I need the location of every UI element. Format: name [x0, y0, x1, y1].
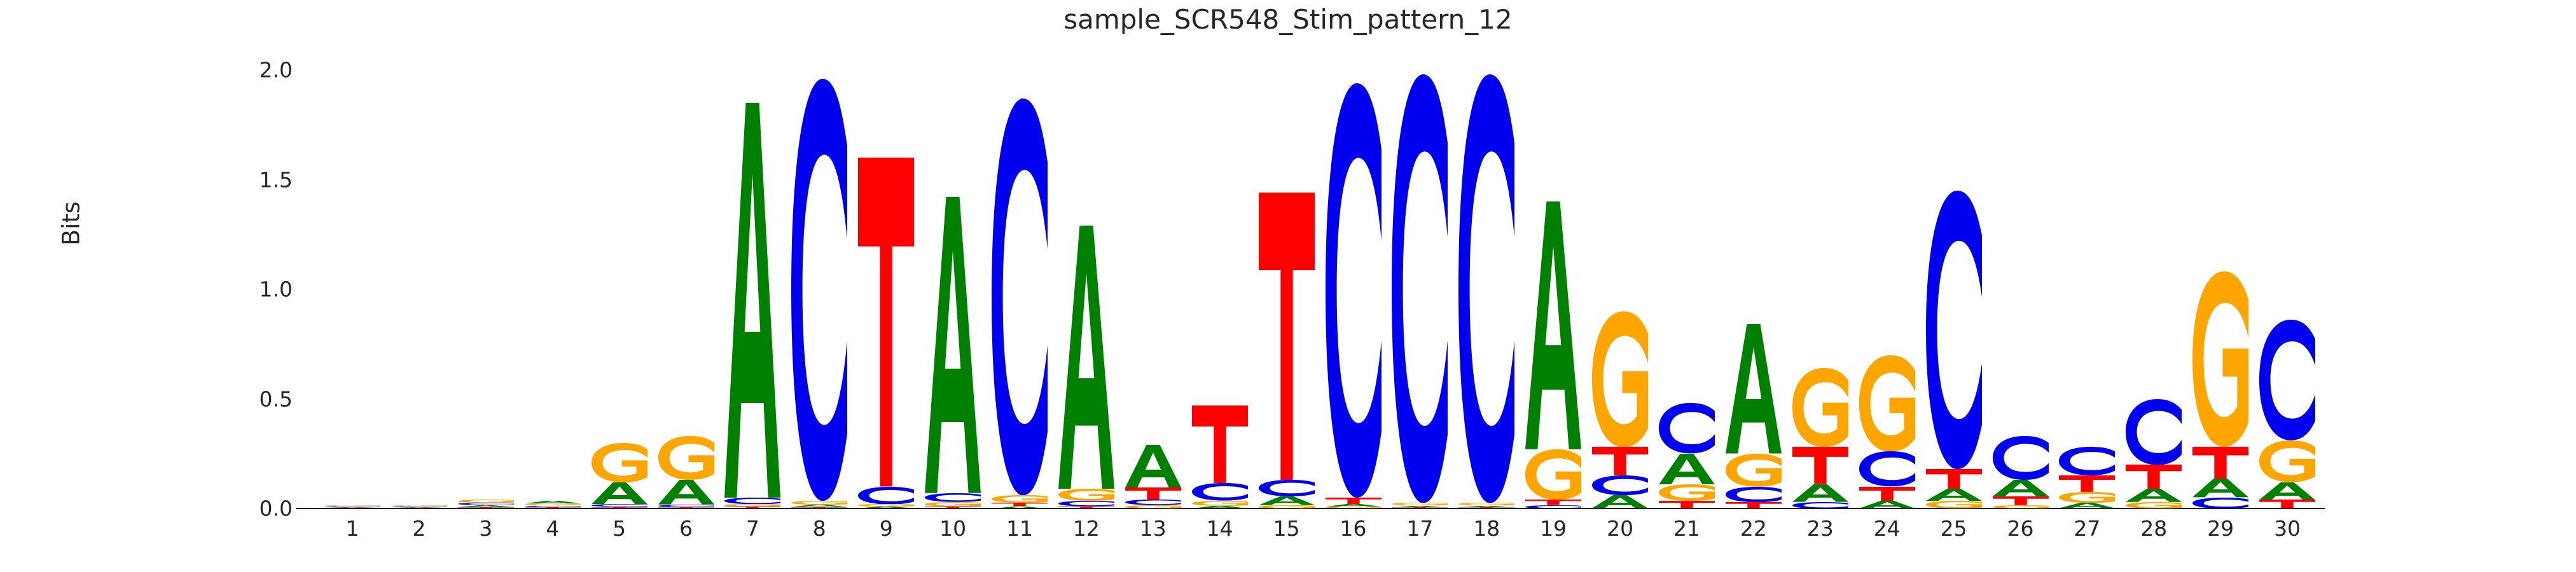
logo-letter-c: [2259, 320, 2315, 440]
logo-letter-a: [1659, 454, 1715, 484]
logo-letter-g: [2126, 502, 2182, 508]
logo-stack: [1993, 436, 2049, 508]
logo-stack: [525, 501, 581, 508]
logo-stack: [1659, 403, 1715, 508]
logo-letter-t: [1859, 487, 1915, 501]
logo-stack: [2059, 447, 2115, 508]
logo-stack: [324, 505, 380, 508]
logo-letter-t: [1458, 507, 1514, 508]
logo-stack: [724, 103, 780, 508]
logo-stack: [1392, 74, 1448, 508]
logo-letter-t: [2259, 500, 2315, 508]
logo-letter-g: [1058, 489, 1114, 501]
logo-stack: [1859, 355, 1915, 508]
logo-letter-t: [391, 508, 447, 508]
logo-letter-c: [1125, 500, 1181, 505]
logo-letter-c: [1326, 83, 1381, 498]
logo-stack: [2259, 320, 2315, 508]
logo-letter-a: [1993, 480, 2049, 496]
logo-letter-c: [1792, 502, 1848, 508]
logo-letter-c: [2059, 447, 2115, 475]
logo-stack: [858, 158, 914, 508]
logo-letter-a: [724, 103, 780, 498]
logo-letter-t: [791, 507, 847, 508]
logo-letter-a: [992, 507, 1048, 508]
logo-letter-g: [1993, 505, 2049, 508]
logo-letter-g: [1859, 355, 1915, 452]
logo-letter-g: [1726, 454, 1782, 487]
logo-letter-g: [658, 436, 714, 480]
logo-letter-c: [1192, 483, 1248, 501]
logo-letter-c: [992, 99, 1048, 495]
logo-letter-a: [1792, 484, 1848, 502]
logo-letter-c: [1592, 475, 1648, 495]
logo-letter-g: [1125, 505, 1181, 508]
logo-letter-c: [2126, 399, 2182, 465]
logo-letter-t: [525, 507, 581, 508]
logo-stack: [1259, 193, 1315, 508]
logo-letter-g: [1659, 484, 1715, 501]
logo-letter-a: [858, 507, 914, 508]
logo-letter-t: [1058, 507, 1114, 508]
logo-stack: [2126, 399, 2182, 508]
logo-stack: [658, 436, 714, 508]
logo-letter-a: [1058, 226, 1114, 489]
logo-letter-c: [1458, 74, 1514, 503]
logo-letter-t: [2059, 475, 2115, 492]
logo-letter-c: [1926, 191, 1982, 469]
logo-letter-t: [1525, 500, 1581, 505]
logo-letter-g: [2192, 271, 2248, 447]
logo-letter-c: [1726, 487, 1782, 502]
logo-letter-g: [1926, 501, 1982, 508]
logo-letter-g: [592, 443, 647, 482]
logo-stack: [1326, 83, 1381, 508]
logo-letter-c: [925, 493, 981, 502]
logo-letter-g: [1525, 449, 1581, 500]
logo-letter-c: [1659, 403, 1715, 453]
logo-stack: [1792, 368, 1848, 508]
logo-letter-c: [2192, 498, 2248, 508]
logo-letter-a: [1726, 324, 1782, 454]
logo-letter-t: [658, 507, 714, 508]
logo-letter-t: [1392, 507, 1448, 508]
logo-letter-a: [2059, 503, 2115, 508]
logo-letter-c: [1259, 480, 1315, 496]
logo-letter-t: [1592, 447, 1648, 475]
logo-stack: [1592, 311, 1648, 508]
logo-letter-a: [1926, 489, 1982, 501]
logo-stack: [791, 79, 847, 508]
logo-letter-c: [724, 498, 780, 504]
logo-letter-c: [1993, 436, 2049, 480]
logo-letter-a: [1125, 445, 1181, 487]
logo-stack: [458, 500, 514, 508]
logo-letter-a: [925, 197, 981, 493]
logo-letter-a: [2259, 482, 2315, 500]
logo-letter-t: [1192, 405, 1248, 483]
logo-letter-t: [1726, 502, 1782, 508]
logo-stack: [592, 443, 647, 508]
logo-letter-t: [324, 508, 380, 508]
logo-letter-t: [1792, 447, 1848, 484]
logo-letter-t: [458, 507, 514, 508]
logo-letter-a: [2126, 489, 2182, 502]
logo-letter-t: [2126, 465, 2182, 489]
logo-stack: [1458, 74, 1514, 508]
logo-letter-c: [1392, 74, 1448, 503]
logo-stack: [1125, 445, 1181, 508]
logo-stack: [1058, 226, 1114, 508]
logo-stack: [2192, 271, 2248, 508]
logo-letter-c: [791, 79, 847, 501]
logo-stacks: [0, 0, 2576, 572]
logo-stack: [1726, 324, 1782, 508]
logo-letter-c: [1525, 505, 1581, 508]
logo-letter-c: [858, 487, 914, 505]
logo-letter-t: [592, 507, 647, 508]
logo-letter-c: [1058, 501, 1114, 507]
logo-letter-g: [2259, 440, 2315, 482]
logo-stack: [1525, 201, 1581, 508]
logo-letter-g: [1326, 507, 1381, 508]
logo-letter-a: [658, 480, 714, 505]
logo-letter-t: [1659, 501, 1715, 508]
logo-letter-a: [1592, 495, 1648, 508]
logo-letter-t: [1125, 487, 1181, 500]
logo-letter-t: [925, 507, 981, 508]
logo-stack: [391, 505, 447, 508]
logo-letter-a: [1525, 201, 1581, 449]
logo-letter-c: [1859, 451, 1915, 486]
logo-stack: [1926, 191, 1982, 508]
logo-letter-g: [992, 495, 1048, 503]
logo-letter-a: [2192, 479, 2248, 497]
logo-letter-a: [592, 482, 647, 505]
logo-letter-g: [2059, 492, 2115, 503]
sequence-logo-figure: sample_SCR548_Stim_pattern_12 Bits 0.00.…: [0, 0, 2576, 572]
logo-letter-t: [2192, 447, 2248, 479]
logo-letter-g: [1192, 501, 1248, 506]
logo-letter-g: [1792, 368, 1848, 447]
logo-letter-g: [1259, 505, 1315, 508]
logo-letter-g: [1592, 311, 1648, 447]
logo-letter-t: [1326, 498, 1381, 504]
logo-letter-g: [925, 502, 981, 507]
logo-letter-t: [858, 158, 914, 487]
logo-stack: [1192, 405, 1248, 508]
logo-letter-t: [724, 507, 780, 508]
logo-stack: [925, 197, 981, 508]
logo-letter-t: [1993, 496, 2049, 505]
logo-letter-a: [1259, 496, 1315, 505]
logo-letter-a: [1192, 506, 1248, 508]
logo-letter-a: [1859, 501, 1915, 508]
logo-letter-t: [1926, 469, 1982, 489]
logo-letter-t: [1259, 193, 1315, 480]
logo-stack: [992, 99, 1048, 508]
